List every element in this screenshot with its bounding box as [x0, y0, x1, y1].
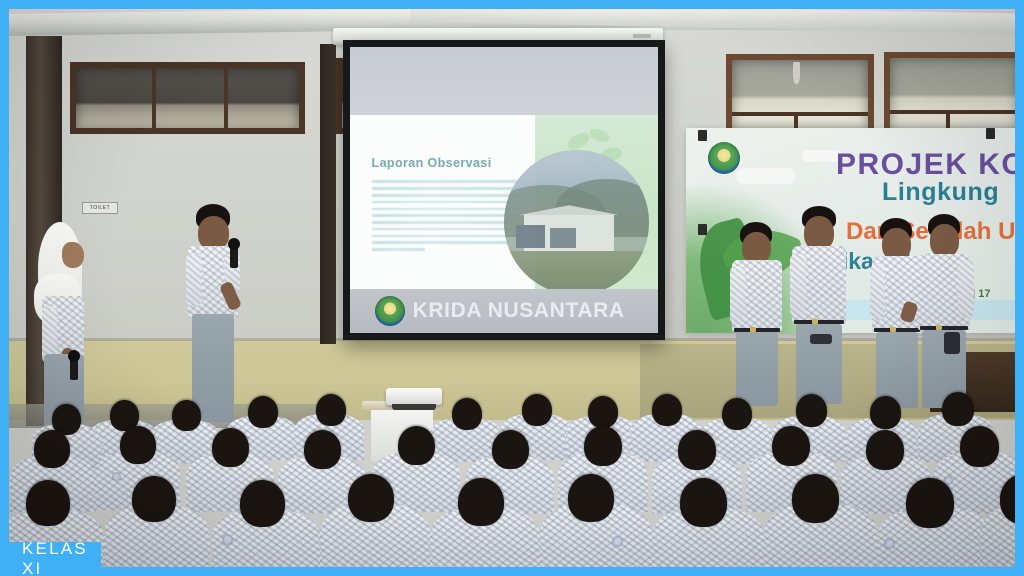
- toilet-sign: TOILET: [82, 202, 118, 214]
- held-device: [944, 332, 960, 354]
- presentation-slide: Laporan Observasi: [350, 115, 658, 333]
- projector: [386, 388, 442, 405]
- presenter-female: [26, 222, 96, 422]
- presenter-male-speaker: [180, 204, 254, 424]
- ceiling-hook: [793, 62, 800, 84]
- slide-footer: KRIDA NUSANTARA: [350, 289, 658, 333]
- pillar-center: [320, 44, 336, 344]
- standing-student-2: [788, 206, 858, 402]
- banner-title-line2: Lingkung: [882, 178, 999, 207]
- window-right-b: [884, 52, 1024, 134]
- slide-body-text: [372, 180, 520, 255]
- photo-stage: TOILET Laporan Observasi: [0, 0, 1024, 576]
- held-device: [810, 334, 832, 344]
- standing-student-1: [728, 222, 794, 402]
- screen-blank-area: [350, 47, 658, 115]
- slide-footer-brand: KRIDA NUSANTARA: [413, 299, 625, 323]
- banner-school-crest-icon: [708, 142, 740, 174]
- projection-screen: Laporan Observasi: [343, 40, 665, 340]
- slide-photo-circular: [504, 150, 649, 295]
- window-right-a: [726, 54, 874, 134]
- microphone-icon: [230, 242, 238, 268]
- school-crest-icon: [375, 296, 405, 326]
- slide-title: Laporan Observasi: [372, 156, 492, 170]
- window-left: [70, 62, 305, 134]
- standing-student-4: [914, 214, 984, 404]
- microphone-icon: [70, 354, 78, 380]
- banner-title-line1: PROJEK KO: [836, 148, 1024, 182]
